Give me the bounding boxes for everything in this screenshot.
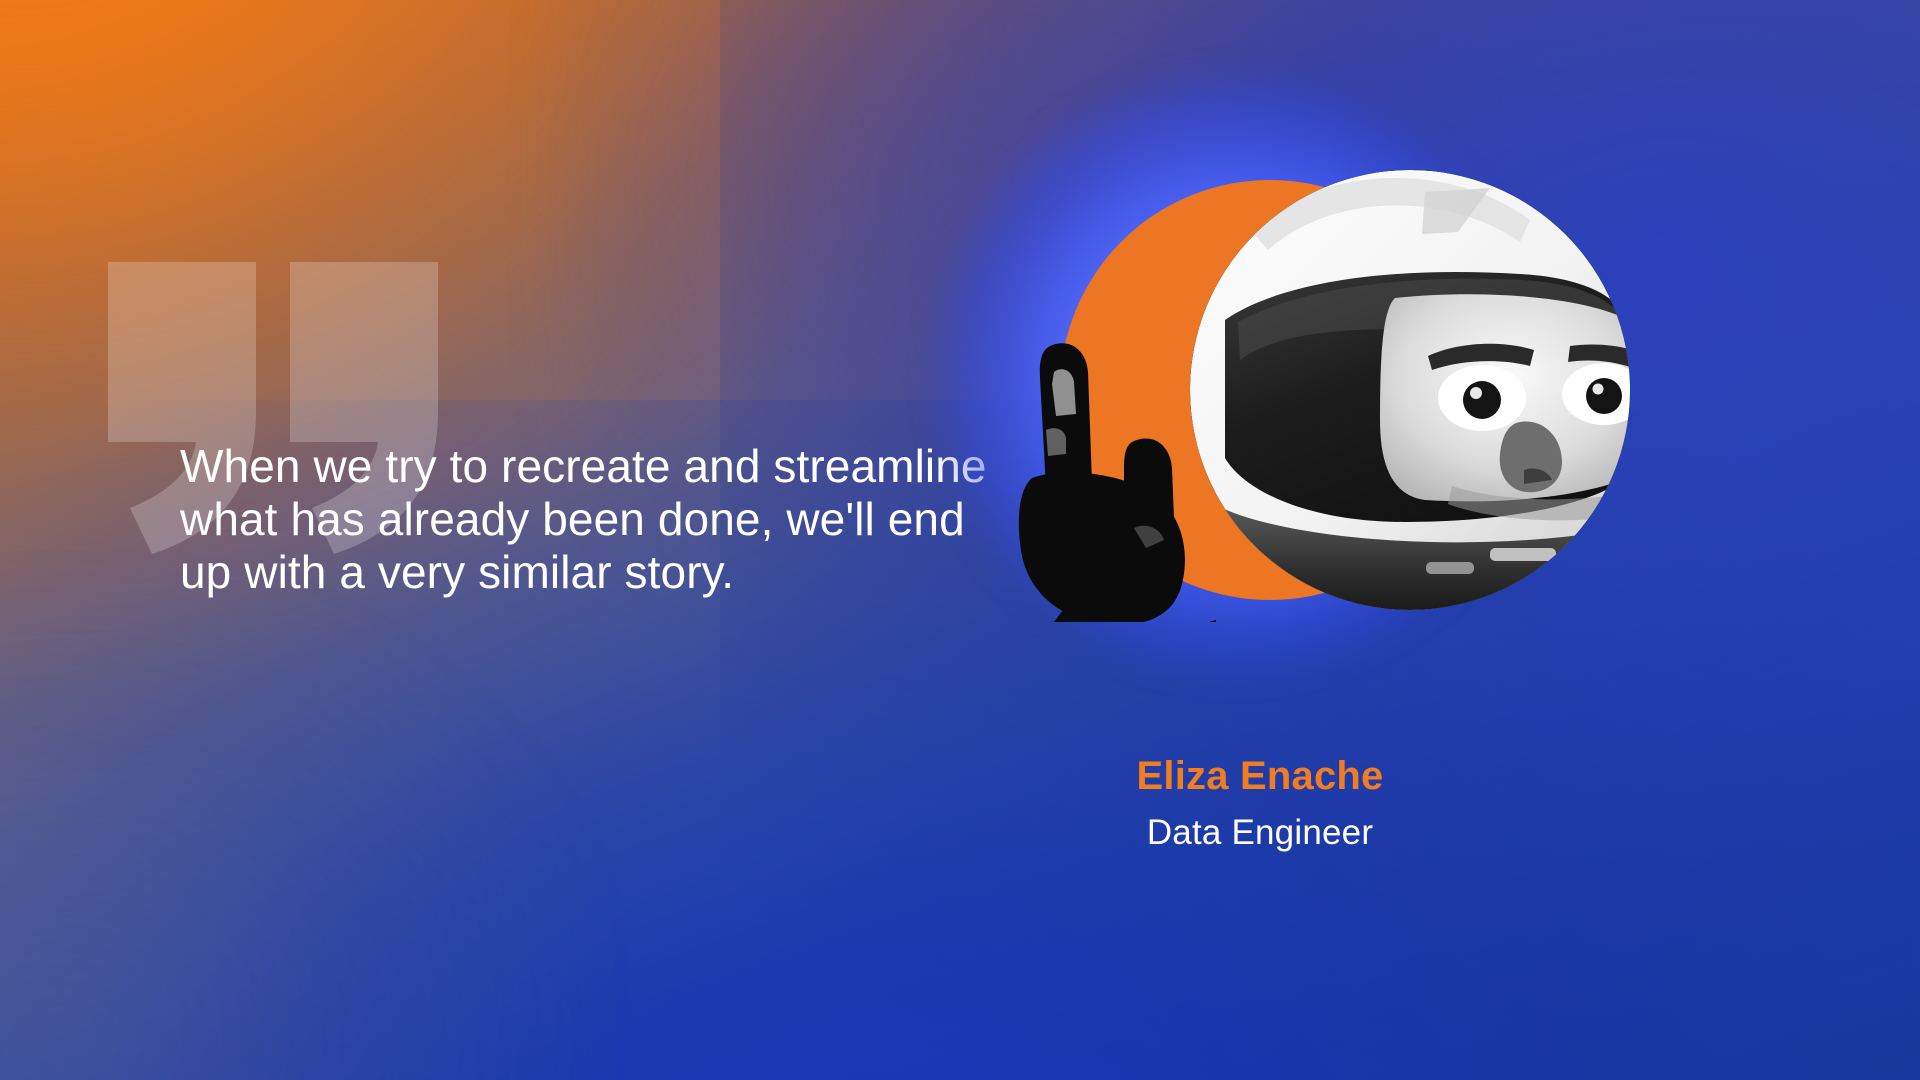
- slide-canvas: When we try to recreate and streamline w…: [0, 0, 1920, 1080]
- speaker-caption: Eliza Enache Data Engineer: [1000, 752, 1520, 856]
- quote-line-3: up with a very similar story.: [180, 546, 1010, 599]
- portrait-photo: [1190, 170, 1630, 610]
- quote-text-block: When we try to recreate and streamline w…: [180, 440, 1010, 599]
- quote-line-2: what has already been done, we'll end: [180, 493, 1010, 546]
- background-bottomleft-haze: [0, 580, 600, 1080]
- speaker-name: Eliza Enache: [1000, 752, 1520, 800]
- speaker-role: Data Engineer: [1000, 810, 1520, 856]
- pointing-hand-icon: [1006, 332, 1216, 622]
- speaker-portrait: [1000, 140, 1470, 610]
- quote-line-1: When we try to recreate and streamline: [180, 440, 1010, 493]
